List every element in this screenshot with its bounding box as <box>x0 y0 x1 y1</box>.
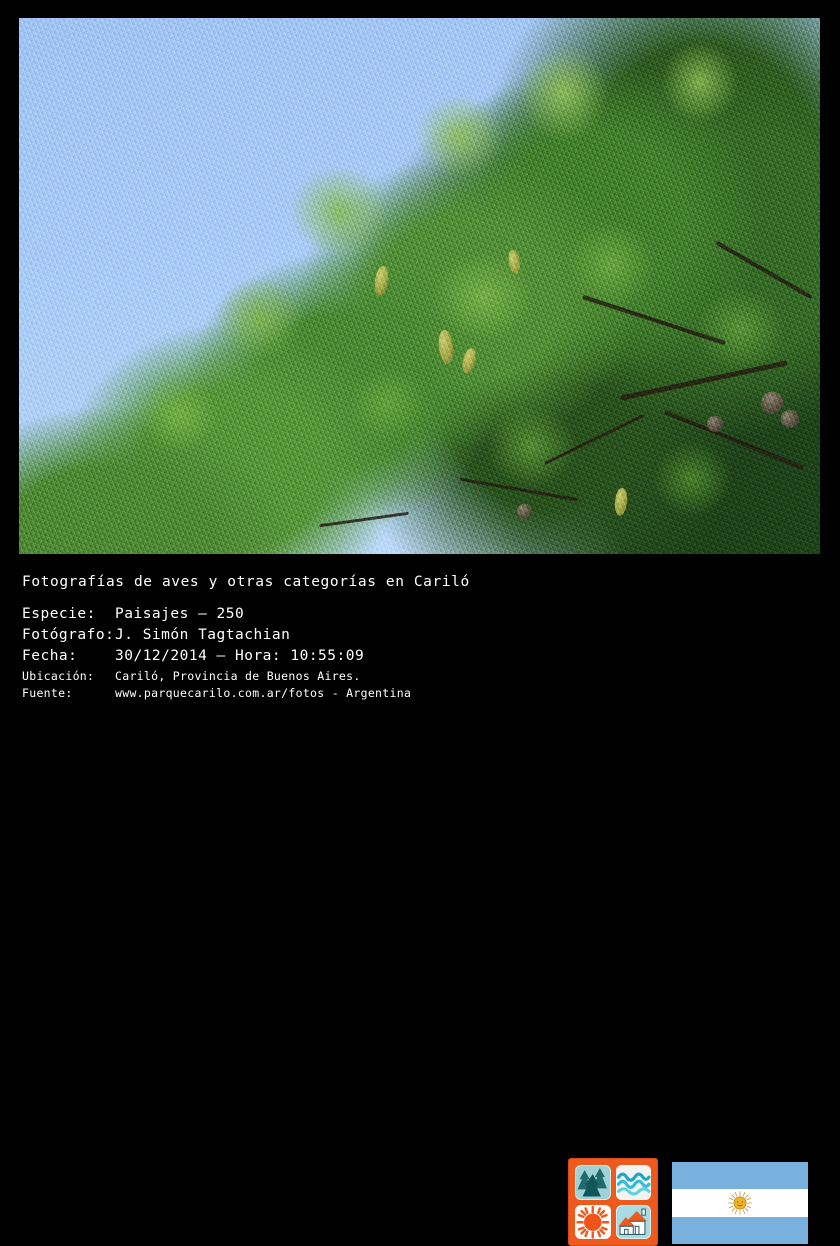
label-especie: Especie: <box>22 606 115 622</box>
sun-icon <box>575 1205 611 1240</box>
page-title: Fotografías de aves y otras categorías e… <box>22 574 470 590</box>
page-root: Fotografías de aves y otras categorías e… <box>0 0 840 708</box>
label-fotografo: Fotógrafo: <box>22 627 115 643</box>
flag-band-top <box>672 1162 808 1189</box>
flag-band-bottom <box>672 1217 808 1244</box>
label-ubicacion: Ubicación: <box>22 669 115 683</box>
value-fecha: 30/12/2014 — Hora: 10:55:09 <box>115 648 542 664</box>
metadata-row-ubicacion: Ubicación: Cariló, Provincia de Buenos A… <box>22 669 542 686</box>
parque-carilo-logo[interactable] <box>568 1158 658 1246</box>
metadata-list: Especie: Paisajes — 250 Fotógrafo: J. Si… <box>22 606 542 703</box>
photograph <box>19 18 820 554</box>
value-especie: Paisajes — 250 <box>115 606 542 622</box>
tree-canopy <box>19 18 820 554</box>
label-fuente: Fuente: <box>22 686 115 700</box>
value-fotografo: J. Simón Tagtachian <box>115 627 542 643</box>
metadata-row-fotografo: Fotógrafo: J. Simón Tagtachian <box>22 627 542 648</box>
waves-icon <box>616 1165 652 1200</box>
houses-icon <box>616 1205 652 1240</box>
metadata-row-especie: Especie: Paisajes — 250 <box>22 606 542 627</box>
value-fuente: www.parquecarilo.com.ar/fotos - Argentin… <box>115 686 542 700</box>
argentina-flag <box>672 1162 808 1244</box>
pine-trees-icon <box>575 1165 611 1200</box>
metadata-row-fecha: Fecha: 30/12/2014 — Hora: 10:55:09 <box>22 648 542 669</box>
needle-texture-secondary <box>19 18 820 554</box>
value-ubicacion: Cariló, Provincia de Buenos Aires. <box>115 669 542 683</box>
metadata-row-fuente: Fuente: www.parquecarilo.com.ar/fotos - … <box>22 686 542 703</box>
label-fecha: Fecha: <box>22 648 115 664</box>
caption-panel: Fotografías de aves y otras categorías e… <box>0 556 840 708</box>
sun-of-may-icon <box>727 1190 753 1216</box>
